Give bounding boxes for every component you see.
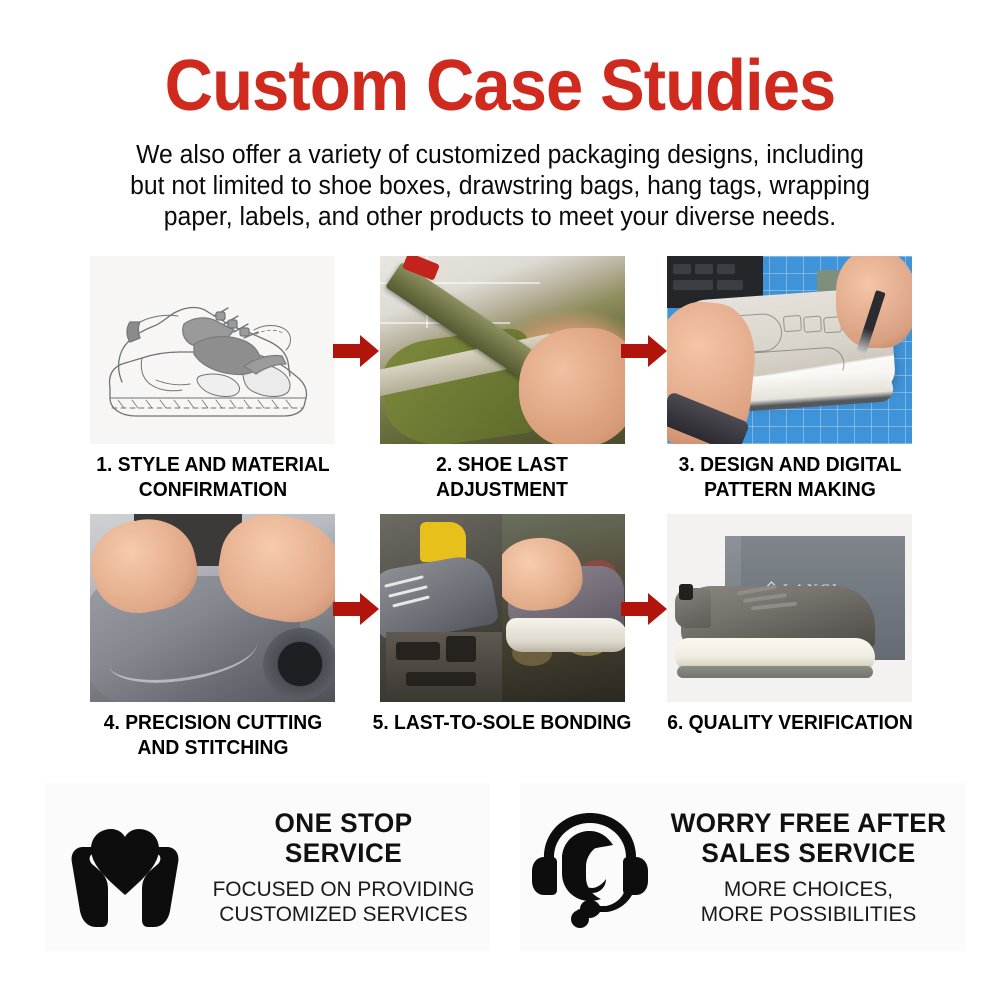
step-image-1 — [90, 256, 335, 444]
step-caption-6: 6. QUALITY VERIFICATION — [649, 710, 931, 735]
sneaker-line-sketch-icon — [90, 256, 335, 444]
banner-heading-line: SERVICE — [209, 838, 478, 868]
stitching-grey-upper-photo — [90, 514, 335, 702]
banner-sub-line: MORE POSSIBILITIES — [664, 902, 952, 927]
caption-line: 4. PRECISION CUTTING — [72, 710, 354, 735]
banner-heading-line: WORRY FREE AFTER — [664, 808, 952, 838]
arrow-right-icon-4 — [621, 592, 667, 626]
one-stop-service-banner: ONE STOP SERVICE FOCUSED ON PROVIDING CU… — [45, 783, 490, 951]
caption-line: CONFIRMATION — [72, 477, 354, 502]
bonding-panel-left — [380, 514, 502, 702]
banner-sub-line: FOCUSED ON PROVIDING — [209, 877, 478, 902]
step-image-6: LANCI — [667, 514, 912, 702]
bonding-panel-right — [502, 514, 625, 702]
worry-free-after-sales-banner: WORRY FREE AFTER SALES SERVICE MORE CHOI… — [520, 783, 965, 951]
arrow-right-icon-3 — [333, 592, 379, 626]
heart-in-hands-icon — [45, 803, 205, 931]
caption-line: 6. QUALITY VERIFICATION — [649, 710, 931, 735]
custom-case-studies-page: Custom Case Studies We also offer a vari… — [0, 0, 1000, 1000]
caption-line: 5. LAST-TO-SOLE BONDING — [361, 710, 643, 735]
subtitle-line-2: but not limited to shoe boxes, drawstrin… — [112, 171, 888, 202]
banner-heading: ONE STOP SERVICE — [209, 808, 478, 868]
banner-sub-line: CUSTOMIZED SERVICES — [209, 902, 478, 927]
banner-subtext: MORE CHOICES, MORE POSSIBILITIES — [664, 877, 952, 927]
banner-heading: WORRY FREE AFTER SALES SERVICE — [664, 808, 952, 868]
caption-line: 3. DESIGN AND DIGITAL — [649, 452, 931, 477]
step-caption-2: 2. SHOE LAST ADJUSTMENT — [361, 452, 643, 502]
shoe-last-sanding-photo — [380, 256, 625, 444]
step-caption-1: 1. STYLE AND MATERIAL CONFIRMATION — [72, 452, 354, 502]
arrow-right-icon-2 — [621, 334, 667, 368]
arrow-right-icon-1 — [333, 334, 379, 368]
caption-line: PATTERN MAKING — [649, 477, 931, 502]
page-subtitle: We also offer a variety of customized pa… — [112, 140, 888, 233]
finished-sneaker-with-box-photo: LANCI — [667, 514, 912, 702]
banner-subtext: FOCUSED ON PROVIDING CUSTOMIZED SERVICES — [209, 877, 478, 927]
step-caption-3: 3. DESIGN AND DIGITAL PATTERN MAKING — [649, 452, 931, 502]
banner-heading-line: SALES SERVICE — [664, 838, 952, 868]
step-image-4 — [90, 514, 335, 702]
step-image-2 — [380, 256, 625, 444]
step-caption-5: 5. LAST-TO-SOLE BONDING — [361, 710, 643, 735]
process-steps-grid: 1. STYLE AND MATERIAL CONFIRMATION 2. SH… — [0, 256, 1000, 772]
step-image-3 — [667, 256, 912, 444]
service-banners: ONE STOP SERVICE FOCUSED ON PROVIDING CU… — [0, 783, 1000, 959]
last-to-sole-bonding-split-photo — [380, 514, 625, 702]
pattern-making-on-cutting-mat-photo — [667, 256, 912, 444]
caption-line: AND STITCHING — [72, 735, 354, 760]
page-title: Custom Case Studies — [35, 48, 965, 124]
step-image-5 — [380, 514, 625, 702]
banner-heading-line: ONE STOP — [209, 808, 478, 838]
one-stop-service-text: ONE STOP SERVICE FOCUSED ON PROVIDING CU… — [205, 808, 490, 927]
process-row-1: 1. STYLE AND MATERIAL CONFIRMATION 2. SH… — [0, 256, 1000, 514]
step-caption-4: 4. PRECISION CUTTING AND STITCHING — [72, 710, 354, 760]
caption-line: 1. STYLE AND MATERIAL — [72, 452, 354, 477]
worry-free-service-text: WORRY FREE AFTER SALES SERVICE MORE CHOI… — [660, 808, 965, 927]
caption-line: 2. SHOE LAST — [361, 452, 643, 477]
subtitle-line-3: paper, labels, and other products to mee… — [112, 202, 888, 233]
banner-sub-line: MORE CHOICES, — [664, 877, 952, 902]
process-row-2: LANCI 4. PRECISION CUTTING AND ST — [0, 514, 1000, 772]
headset-support-agent-icon — [520, 805, 660, 929]
subtitle-line-1: We also offer a variety of customized pa… — [112, 140, 888, 171]
caption-line: ADJUSTMENT — [361, 477, 643, 502]
